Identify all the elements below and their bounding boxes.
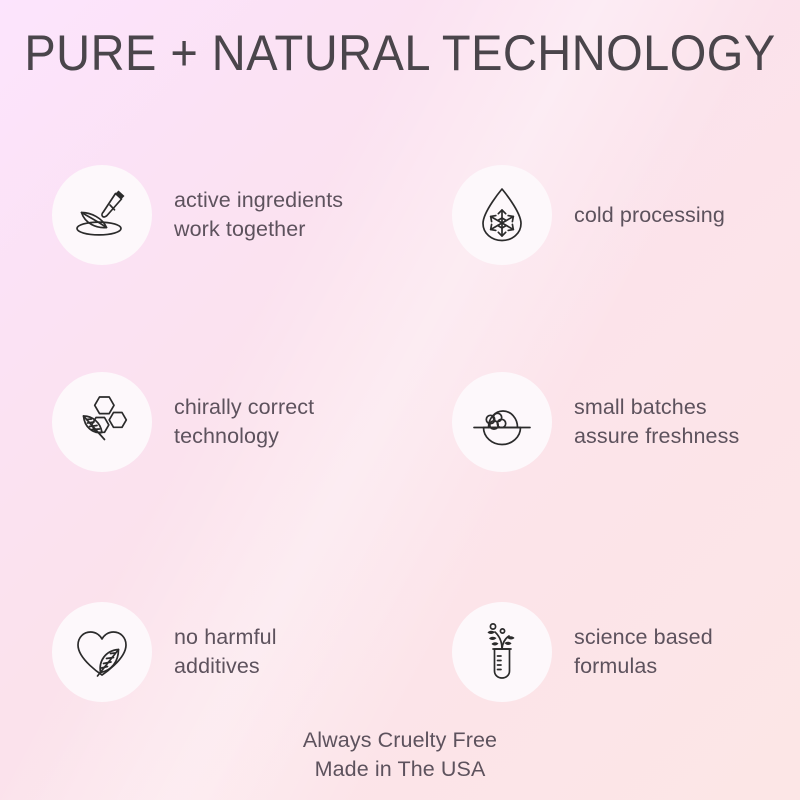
mixing-bowl-berries-icon (452, 372, 552, 472)
feature-label: cold processing (574, 201, 725, 230)
feature-label: no harmful additives (174, 623, 277, 681)
droplet-snowflake-icon (452, 165, 552, 265)
dropper-leaf-dish-icon (52, 165, 152, 265)
feature-label: chirally correct technology (174, 393, 314, 451)
feature-item-no-harmful-additives: no harmful additives (52, 587, 442, 717)
feature-item-chirally-correct: chirally correct technology (52, 357, 442, 487)
pure-natural-technology-poster: PURE + NATURAL TECHNOLOGY active ingredi… (0, 0, 800, 800)
feature-label: active ingredients work together (174, 186, 343, 244)
feature-item-active-ingredients: active ingredients work together (52, 150, 442, 280)
feature-label: small batches assure freshness (574, 393, 739, 451)
feature-item-small-batches: small batches assure freshness (452, 357, 800, 487)
feature-item-science-based: science based formulas (452, 587, 800, 717)
hexagon-molecule-leaf-icon (52, 372, 152, 472)
heart-leaf-icon (52, 602, 152, 702)
test-tube-plant-icon (452, 602, 552, 702)
feature-item-cold-processing: cold processing (452, 150, 800, 280)
footer-text: Always Cruelty Free Made in The USA (0, 726, 800, 784)
feature-grid: active ingredients work together (0, 150, 800, 720)
page-title: PURE + NATURAL TECHNOLOGY (24, 22, 776, 84)
feature-label: science based formulas (574, 623, 713, 681)
